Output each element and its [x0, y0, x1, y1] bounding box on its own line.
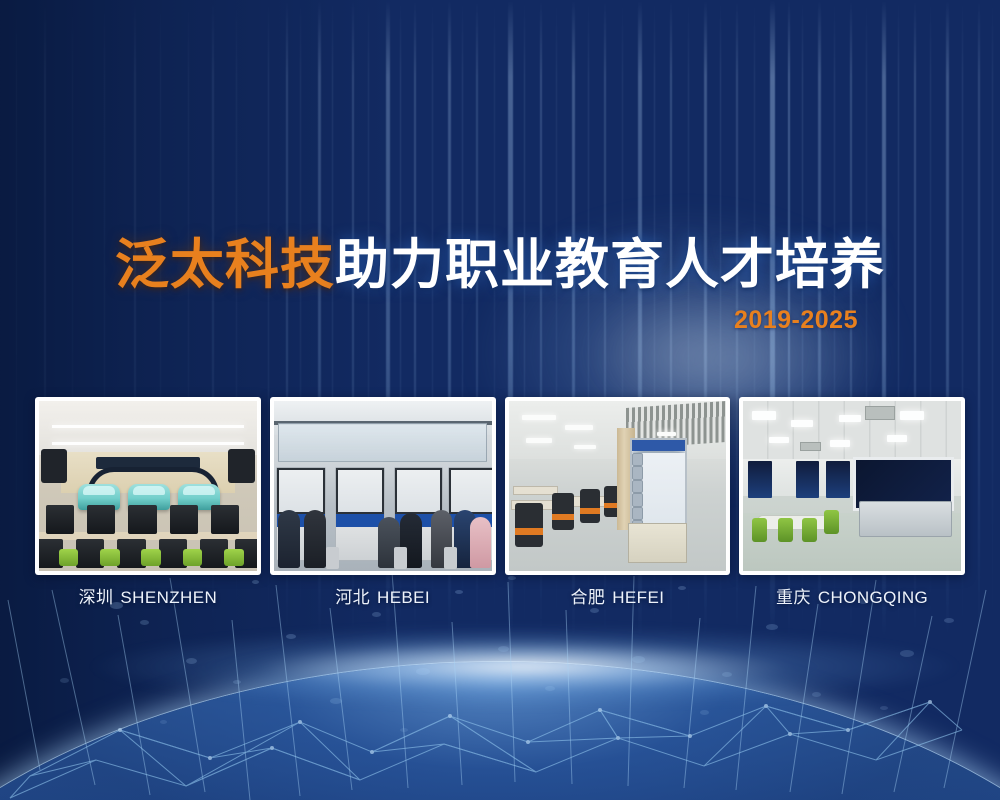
- photo-hefei: [509, 401, 727, 571]
- light-streak: [978, 0, 980, 640]
- bokeh-dot: [812, 692, 821, 697]
- bokeh-dot: [900, 650, 914, 657]
- caption-hebei-en: HEBEI: [377, 588, 430, 607]
- bokeh-dot: [722, 672, 732, 677]
- bokeh-dot: [233, 680, 241, 684]
- bokeh-dot: [140, 620, 149, 625]
- photo-hebei: [274, 401, 492, 571]
- caption-hefei-cn: 合肥: [570, 588, 605, 607]
- caption-hebei-cn: 河北: [335, 588, 370, 607]
- photo-chongqing: [743, 401, 961, 571]
- bokeh-dot: [700, 710, 709, 715]
- caption-hefei-en: HEFEI: [612, 588, 664, 607]
- bokeh-dot: [498, 646, 509, 652]
- photo-shenzhen: [39, 401, 257, 571]
- caption-shenzhen-en: SHENZHEN: [120, 588, 217, 607]
- gallery-item-shenzhen[interactable]: [35, 397, 261, 575]
- bokeh-dot: [944, 618, 954, 623]
- bokeh-dot: [632, 656, 645, 663]
- bokeh-dot: [400, 728, 408, 732]
- bokeh-dot: [766, 624, 778, 630]
- caption-chongqing-cn: 重庆: [776, 588, 811, 607]
- brand-name: 泛太科技: [115, 235, 335, 295]
- title-rest: 助力职业教育人才培养: [335, 235, 885, 295]
- light-streak: [992, 0, 993, 640]
- bokeh-dot: [372, 612, 381, 617]
- bokeh-dot: [590, 608, 599, 613]
- bokeh-dot: [508, 576, 516, 580]
- gallery-item-chongqing[interactable]: [739, 397, 965, 575]
- caption-hebei: 河北HEBEI: [270, 583, 496, 608]
- gallery-captions: 深圳SHENZHEN 河北HEBEI 合肥HEFEI 重庆CHONGQING: [35, 583, 965, 608]
- photo-gallery: [35, 397, 965, 567]
- caption-chongqing: 重庆CHONGQING: [739, 583, 965, 608]
- caption-shenzhen-cn: 深圳: [79, 588, 114, 607]
- light-streak: [16, 0, 17, 640]
- gallery-item-hefei[interactable]: [505, 397, 731, 575]
- gallery-item-hebei[interactable]: [270, 397, 496, 575]
- caption-shenzhen: 深圳SHENZHEN: [35, 583, 261, 608]
- caption-hefei: 合肥HEFEI: [505, 583, 731, 608]
- page-title: 泛太科技助力职业教育人才培养: [0, 234, 1000, 296]
- caption-chongqing-en: CHONGQING: [818, 588, 928, 607]
- banner-stage: 泛太科技助力职业教育人才培养 2019-2025: [0, 0, 1000, 800]
- bokeh-dot: [186, 658, 197, 664]
- year-range: 2019-2025: [734, 306, 858, 335]
- bokeh-dot: [330, 698, 342, 704]
- bokeh-dot: [416, 668, 430, 675]
- bokeh-dot: [60, 678, 69, 683]
- bokeh-dot: [286, 634, 296, 639]
- bokeh-dot: [160, 720, 167, 724]
- bokeh-dot: [880, 706, 888, 710]
- bokeh-dot: [545, 686, 555, 691]
